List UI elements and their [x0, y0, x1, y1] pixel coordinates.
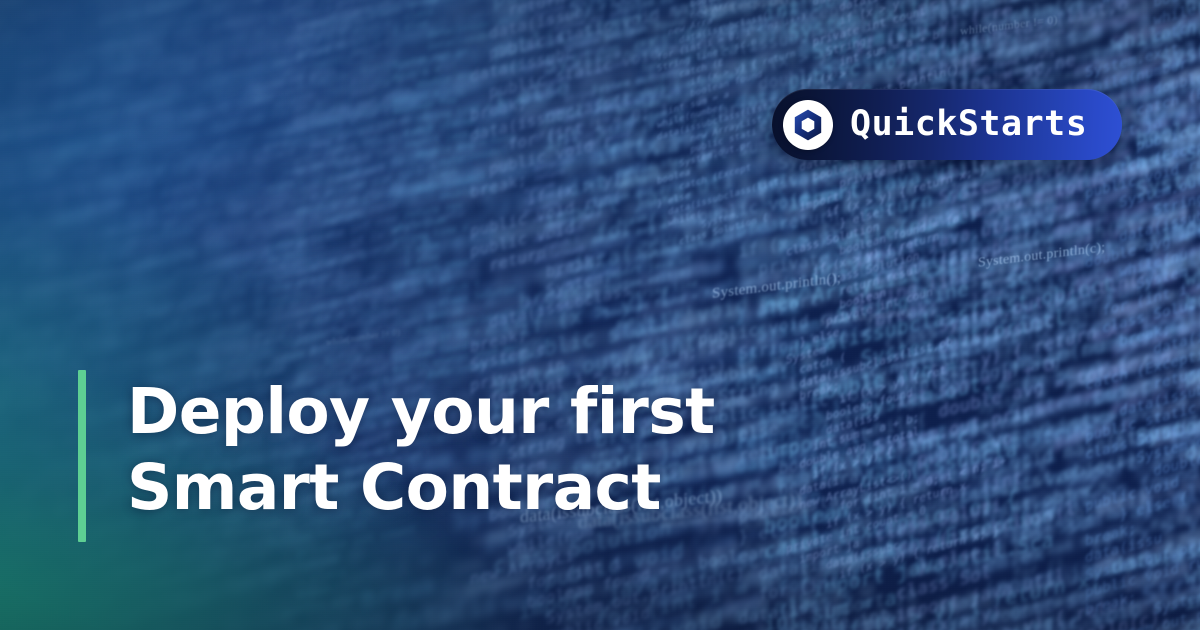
chainlink-hexagon-icon: [783, 100, 833, 150]
quickstarts-badge[interactable]: QuickStarts: [772, 89, 1122, 160]
quickstarts-badge-label: QuickStarts: [850, 107, 1087, 142]
banner-root: if (x > y) { r public static void main(S…: [0, 0, 1200, 630]
headline-line-1: Deploy your first: [127, 374, 715, 450]
page-title: Deploy your first Smart Contract: [127, 370, 715, 542]
headline-line-2: Smart Contract: [127, 450, 715, 526]
headline-block: Deploy your first Smart Contract: [78, 370, 715, 542]
accent-bar: [78, 370, 86, 542]
